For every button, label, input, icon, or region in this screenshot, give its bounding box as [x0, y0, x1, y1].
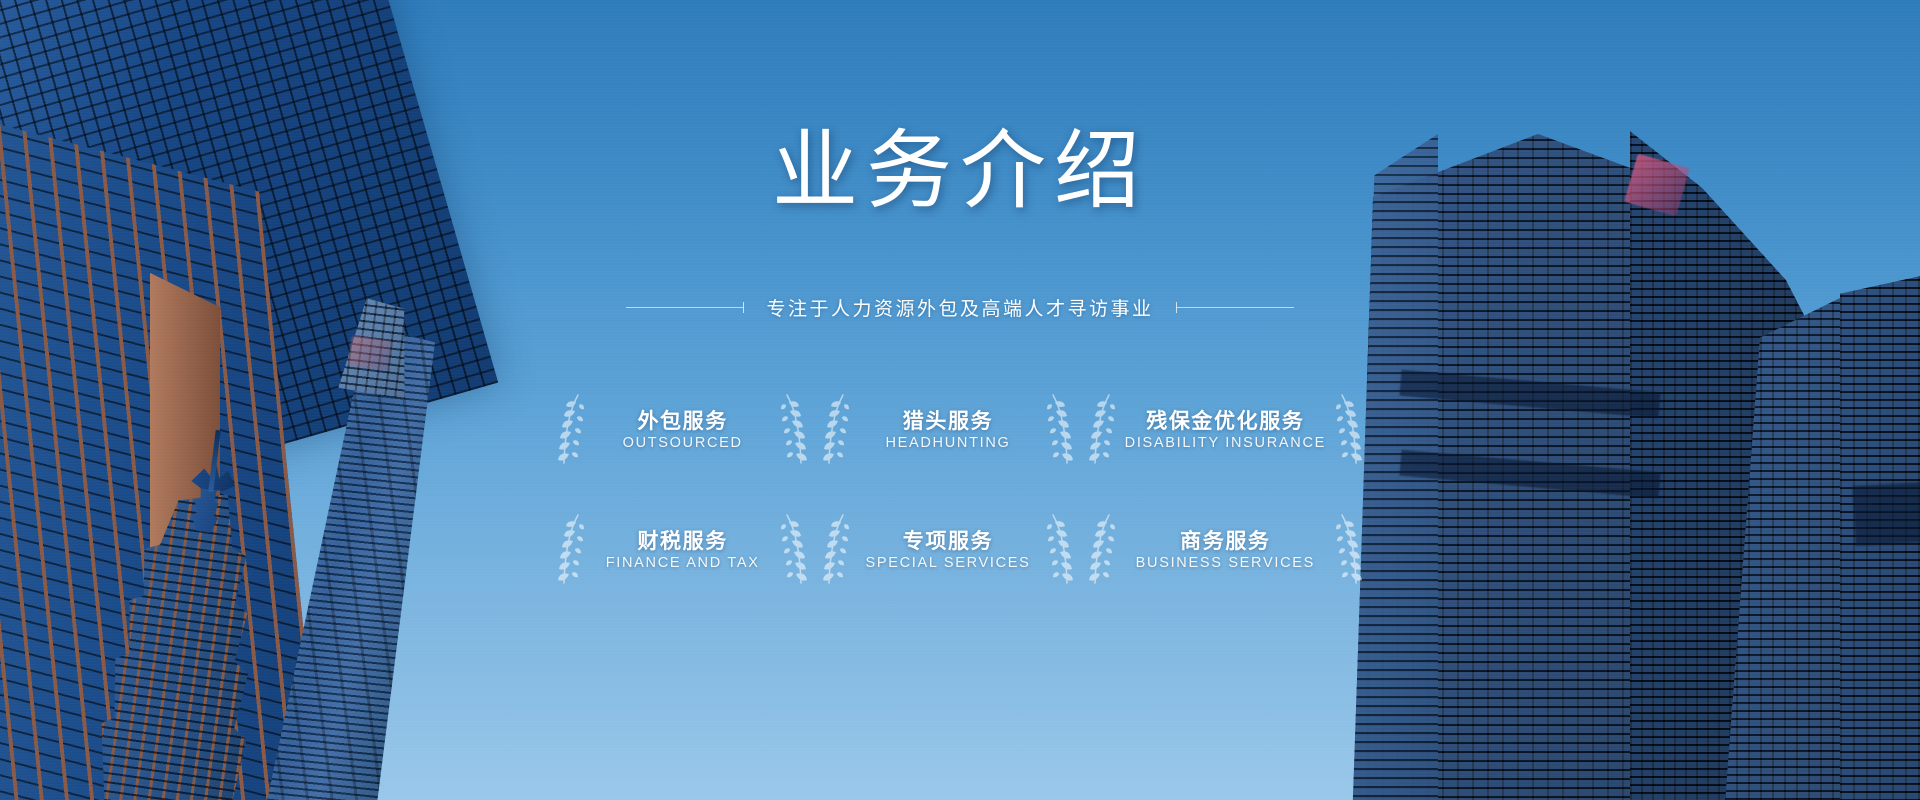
service-labels: 专项服务 SPECIAL SERVICES — [851, 528, 1044, 572]
service-name-en: OUTSOURCED — [623, 435, 743, 451]
service-name-en: DISABILITY INSURANCE — [1125, 435, 1326, 451]
laurel-branch-icon — [1045, 393, 1075, 467]
laurel-branch-icon — [1334, 393, 1364, 467]
service-item-special-services[interactable]: 专项服务 SPECIAL SERVICES — [815, 502, 1080, 598]
service-labels: 外包服务 OUTSOURCED — [586, 408, 779, 452]
laurel-branch-icon — [821, 393, 851, 467]
service-name-cn: 残保金优化服务 — [1146, 409, 1304, 433]
laurel-branch-icon — [1087, 513, 1117, 587]
service-name-en: SPECIAL SERVICES — [865, 555, 1030, 571]
page-title: 业务介绍 — [0, 128, 1920, 214]
service-name-cn: 商务服务 — [1180, 529, 1270, 553]
laurel-branch-icon — [779, 513, 809, 587]
service-labels: 残保金优化服务 DISABILITY INSURANCE — [1117, 408, 1334, 452]
subtitle-row: 专注于人力资源外包及高端人才寻访事业 — [0, 294, 1920, 321]
page-subtitle: 专注于人力资源外包及高端人才寻访事业 — [744, 294, 1175, 321]
laurel-branch-icon — [779, 393, 809, 467]
laurel-branch-icon — [1087, 393, 1117, 467]
service-name-en: FINANCE AND TAX — [606, 555, 760, 571]
service-item-headhunting[interactable]: 猎头服务 HEADHUNTING — [815, 382, 1080, 478]
service-name-cn: 财税服务 — [637, 529, 727, 553]
subtitle-rule-left-icon — [626, 307, 744, 308]
laurel-branch-icon — [1045, 513, 1075, 587]
service-labels: 商务服务 BUSINESS SERVICES — [1117, 528, 1334, 572]
service-item-disability-insurance[interactable]: 残保金优化服务 DISABILITY INSURANCE — [1081, 382, 1370, 478]
laurel-branch-icon — [556, 513, 586, 587]
subtitle-rule-right-icon — [1176, 307, 1294, 308]
service-labels: 财税服务 FINANCE AND TAX — [586, 528, 779, 572]
business-intro-banner: 业务介绍 专注于人力资源外包及高端人才寻访事业 — [0, 0, 1920, 800]
service-item-business-services[interactable]: 商务服务 BUSINESS SERVICES — [1081, 502, 1370, 598]
service-item-outsourced[interactable]: 外包服务 OUTSOURCED — [550, 382, 815, 478]
service-item-finance-and-tax[interactable]: 财税服务 FINANCE AND TAX — [550, 502, 815, 598]
service-name-cn: 外包服务 — [637, 409, 727, 433]
service-name-cn: 猎头服务 — [903, 409, 993, 433]
service-labels: 猎头服务 HEADHUNTING — [851, 408, 1044, 452]
service-list: 外包服务 OUTSOURCED — [550, 382, 1370, 598]
service-name-cn: 专项服务 — [903, 529, 993, 553]
laurel-branch-icon — [821, 513, 851, 587]
service-name-en: BUSINESS SERVICES — [1136, 555, 1315, 571]
service-name-en: HEADHUNTING — [885, 435, 1010, 451]
banner-content: 业务介绍 专注于人力资源外包及高端人才寻访事业 — [0, 0, 1920, 800]
laurel-branch-icon — [556, 393, 586, 467]
laurel-branch-icon — [1334, 513, 1364, 587]
